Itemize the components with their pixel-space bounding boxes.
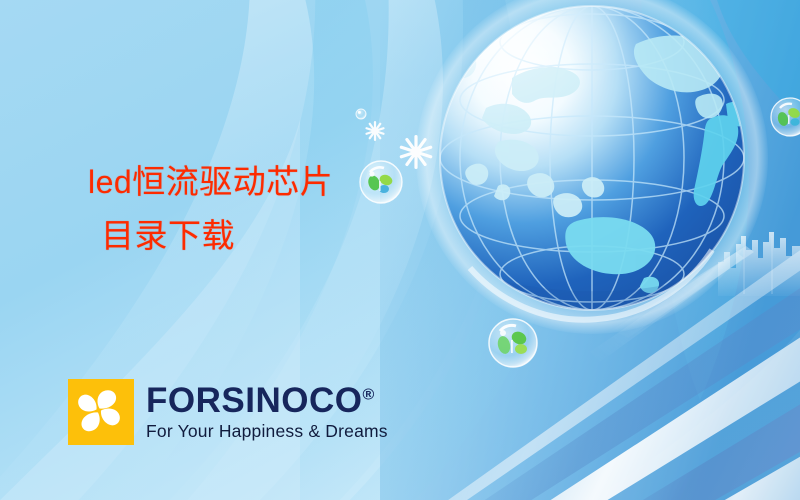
logo-company-text: FORSINOCO [146,381,362,420]
logo-company-name: FORSINOCO® [146,383,388,418]
bubble-pinwheel-mid [489,319,537,367]
headline-line-2: 目录下载 [88,219,333,252]
pinwheel-flower-mark-icon [68,379,134,445]
bubble-pinwheel-left [360,161,402,203]
logo-tagline: For Your Happiness & Dreams [146,421,388,442]
banner-canvas: led恒流驱动芯片 目录下载 FORSINOCO® For Your Happi… [0,0,800,500]
headline-line-1-cjk: 恒流驱动芯片 [132,162,333,201]
registered-trademark-icon: ® [362,386,374,403]
headline-text: led恒流驱动芯片 目录下载 [88,165,333,252]
logo-wordmark: FORSINOCO® For Your Happiness & Dreams [146,383,388,442]
brand-logo: FORSINOCO® For Your Happiness & Dreams [68,379,388,445]
headline-line-1-latin: led [88,164,132,200]
bubble-tiny-top [356,109,366,119]
headline-line-1: led恒流驱动芯片 [88,165,333,198]
